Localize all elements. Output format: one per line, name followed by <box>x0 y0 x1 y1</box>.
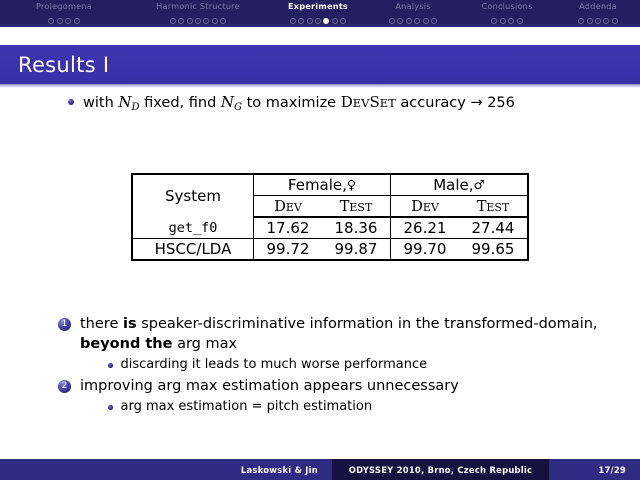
nav-section-addenda[interactable]: Addenda <box>556 0 640 29</box>
enum1-part3: arg max <box>172 336 237 352</box>
nav-dot[interactable] <box>203 18 209 24</box>
nav-section-experiments[interactable]: Experiments <box>268 0 368 29</box>
enum1-part2: speaker-discriminative information in th… <box>137 316 598 332</box>
table-cell-female-test: 99.87 <box>322 239 391 261</box>
sub-item-1-text: discarding it leads to much worse perfor… <box>121 356 428 374</box>
table-cell-system: get_f0 <box>132 217 254 239</box>
nav-dot[interactable] <box>431 18 437 24</box>
nav-section-label: Harmonic Structure <box>128 2 268 11</box>
nav-dot[interactable] <box>587 18 593 24</box>
nav-dot[interactable] <box>307 18 313 24</box>
nav-dot[interactable] <box>178 18 184 24</box>
nav-dot[interactable] <box>517 18 523 24</box>
table-cell-male-dev: 99.70 <box>391 239 460 261</box>
bullet-text-pre: with <box>83 95 118 111</box>
table-row: HSCC/LDA 99.72 99.87 99.70 99.65 <box>132 239 528 261</box>
nav-dot[interactable] <box>603 18 609 24</box>
nav-section-prolegomena[interactable]: Prolegomena <box>0 0 128 29</box>
nav-dot[interactable] <box>195 18 201 24</box>
devset-label-et: ET <box>380 96 396 110</box>
table-subheader-female-dev: DEV <box>254 196 323 218</box>
table-cell-male-test: 27.44 <box>459 217 528 239</box>
sub-bullet-icon <box>108 363 113 368</box>
math-variable-ng: N <box>221 93 234 111</box>
nav-section-dots <box>458 13 556 29</box>
female-symbol-icon: ♀ <box>347 177 356 192</box>
page-title: Results I <box>0 53 109 77</box>
nav-dot[interactable] <box>48 18 54 24</box>
nav-dot[interactable] <box>290 18 296 24</box>
footer-authors: Laskowski & Jin <box>0 459 332 480</box>
nav-dot[interactable] <box>508 18 514 24</box>
table-cell-male-dev: 26.21 <box>391 217 460 239</box>
nav-dot[interactable] <box>423 18 429 24</box>
enum1-bold2: beyond the <box>80 336 172 352</box>
table-cell-system: HSCC/LDA <box>132 239 254 261</box>
table-header-male: Male,♂ <box>391 174 529 196</box>
enum-item-2-text: improving arg max estimation appears unn… <box>80 376 614 396</box>
devset-label-ev: EV <box>353 96 370 110</box>
nav-dot[interactable] <box>340 18 346 24</box>
bullet-text-mid1: fixed, find <box>140 95 221 111</box>
bullet-text-post: accuracy → 256 <box>396 95 515 111</box>
table-cell-female-test: 18.36 <box>322 217 391 239</box>
nav-dot[interactable] <box>406 18 412 24</box>
table-row: get_f0 17.62 18.36 26.21 27.44 <box>132 217 528 239</box>
bullet-text-mid2: to maximize <box>242 95 341 111</box>
math-subscript-g: G <box>234 102 242 113</box>
enum-item-1: 1 there is speaker-discriminative inform… <box>0 314 640 354</box>
enum-badge-1: 1 <box>58 318 71 331</box>
nav-section-dots <box>556 13 640 29</box>
nav-dot[interactable] <box>414 18 420 24</box>
female-label: Female, <box>288 176 347 194</box>
enum1-bold1: is <box>123 316 137 332</box>
enum-badge-2: 2 <box>58 380 71 393</box>
bullet-item-devset: with ND fixed, find NG to maximize DEVSE… <box>0 92 640 115</box>
slide-title-bar: Results I <box>0 45 640 84</box>
table-header-row-groups: System Female,♀ Male,♂ <box>132 174 528 196</box>
table-header-female: Female,♀ <box>254 174 391 196</box>
nav-section-label: Prolegomena <box>0 2 128 11</box>
math-variable-nd: N <box>118 93 131 111</box>
table-header-system: System <box>132 174 254 217</box>
conclusions-list: 1 there is speaker-discriminative inform… <box>0 314 640 418</box>
nav-dot-current[interactable] <box>323 18 329 24</box>
nav-dot[interactable] <box>491 18 497 24</box>
nav-section-label: Analysis <box>368 2 458 11</box>
math-subscript-d: D <box>132 102 140 113</box>
enum1-part1: there <box>80 316 123 332</box>
nav-dot[interactable] <box>220 18 226 24</box>
table-subheader-male-test: TEST <box>459 196 528 218</box>
table-subheader-male-dev: DEV <box>391 196 460 218</box>
nav-dot[interactable] <box>397 18 403 24</box>
enum-item-2: 2 improving arg max estimation appears u… <box>0 376 640 396</box>
footer-page-number: 17/29 <box>549 459 640 480</box>
nav-dot[interactable] <box>389 18 395 24</box>
table-cell-female-dev: 99.72 <box>254 239 323 261</box>
results-table: System Female,♀ Male,♂ DEV TEST DEV TEST… <box>131 173 529 261</box>
nav-dot[interactable] <box>612 18 618 24</box>
section-navigation-bar: ProlegomenaHarmonic StructureExperiments… <box>0 0 640 27</box>
nav-dot[interactable] <box>500 18 506 24</box>
nav-section-dots <box>368 13 458 29</box>
nav-dot[interactable] <box>332 18 338 24</box>
nav-section-label: Addenda <box>556 2 640 11</box>
nav-section-harmonic-structure[interactable]: Harmonic Structure <box>128 0 268 29</box>
nav-dot[interactable] <box>65 18 71 24</box>
slide-footer: Laskowski & Jin ODYSSEY 2010, Brno, Czec… <box>0 459 640 480</box>
nav-dot[interactable] <box>187 18 193 24</box>
nav-section-analysis[interactable]: Analysis <box>368 0 458 29</box>
nav-dot[interactable] <box>315 18 321 24</box>
enum-item-1-text: there is speaker-discriminative informat… <box>80 314 614 354</box>
nav-dot[interactable] <box>57 18 63 24</box>
bullet-sphere-icon <box>68 99 74 105</box>
sub-item-2-text: arg max estimation = pitch estimation <box>121 398 373 416</box>
nav-dot[interactable] <box>298 18 304 24</box>
nav-dot[interactable] <box>595 18 601 24</box>
nav-section-dots <box>128 13 268 29</box>
nav-section-dots <box>0 13 128 29</box>
nav-dot[interactable] <box>578 18 584 24</box>
footer-venue: ODYSSEY 2010, Brno, Czech Republic <box>332 459 549 480</box>
male-symbol-icon: ♂ <box>474 177 485 192</box>
bullet-item-text: with ND fixed, find NG to maximize DEVSE… <box>83 92 620 115</box>
nav-section-conclusions[interactable]: Conclusions <box>458 0 556 29</box>
nav-section-label: Conclusions <box>458 2 556 11</box>
nav-dot[interactable] <box>212 18 218 24</box>
slide-content: with ND fixed, find NG to maximize DEVSE… <box>0 92 640 452</box>
sub-item-2: arg max estimation = pitch estimation <box>0 398 640 416</box>
table-cell-male-test: 99.65 <box>459 239 528 261</box>
nav-section-label: Experiments <box>268 2 368 11</box>
devset-label-d: D <box>341 93 353 111</box>
nav-dot[interactable] <box>74 18 80 24</box>
nav-section-dots <box>268 13 368 29</box>
nav-dot[interactable] <box>170 18 176 24</box>
sub-bullet-icon <box>108 405 113 410</box>
table-subheader-female-test: TEST <box>322 196 391 218</box>
male-label: Male, <box>433 176 473 194</box>
table-cell-female-dev: 17.62 <box>254 217 323 239</box>
devset-label-s: S <box>369 93 379 111</box>
sub-item-1: discarding it leads to much worse perfor… <box>0 356 640 374</box>
results-table-container: System Female,♀ Male,♂ DEV TEST DEV TEST… <box>131 173 529 261</box>
